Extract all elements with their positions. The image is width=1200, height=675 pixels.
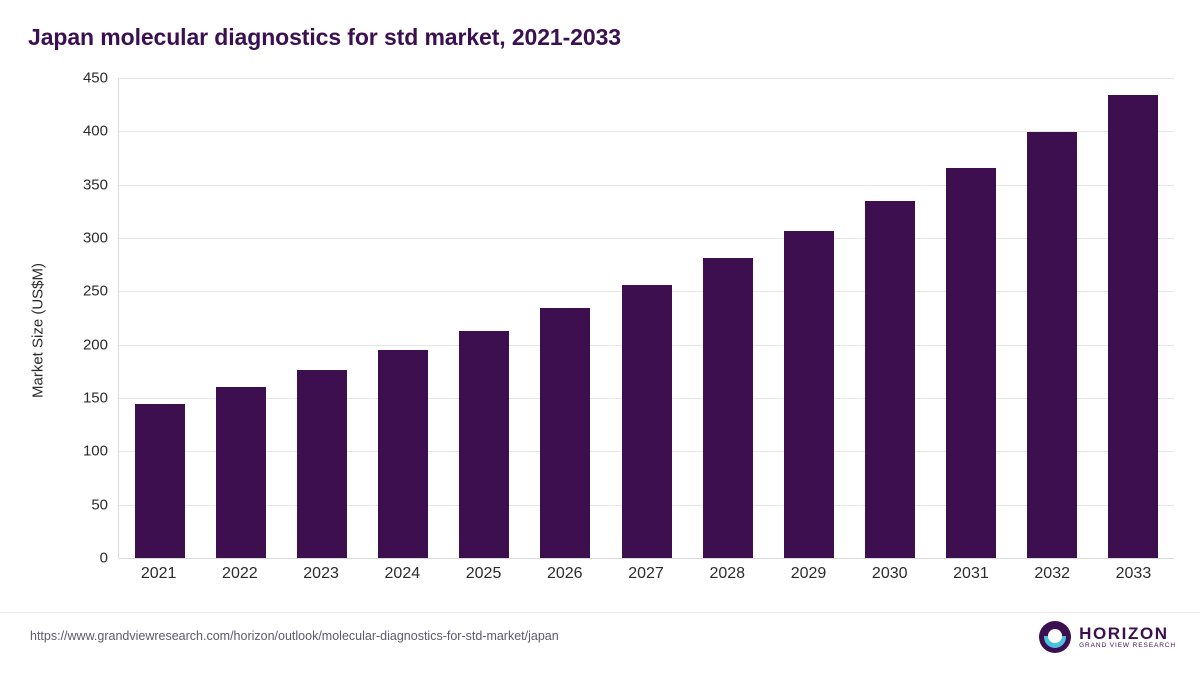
x-axis-ticks: 2021202220232024202520262027202820292030… <box>118 565 1174 583</box>
bar[interactable] <box>216 387 266 558</box>
y-tick-label: 400 <box>50 123 108 140</box>
horizon-logo-text: HORIZON GRAND VIEW RESEARCH <box>1079 625 1176 650</box>
x-tick-label: 2023 <box>280 565 361 583</box>
bar[interactable] <box>622 285 672 558</box>
bar-slot <box>281 78 362 558</box>
horizon-logo: HORIZON GRAND VIEW RESEARCH <box>1039 620 1176 654</box>
y-tick-label: 250 <box>50 283 108 300</box>
bar-slot <box>1093 78 1174 558</box>
footer-divider <box>0 612 1200 613</box>
bar-slot <box>200 78 281 558</box>
logo-name: HORIZON <box>1079 625 1176 643</box>
bar[interactable] <box>459 331 509 558</box>
x-tick-label: 2031 <box>930 565 1011 583</box>
y-tick-label: 300 <box>50 230 108 247</box>
source-url[interactable]: https://www.grandviewresearch.com/horizo… <box>30 629 559 643</box>
bar-slot <box>931 78 1012 558</box>
x-tick-label: 2028 <box>687 565 768 583</box>
bar-slot <box>768 78 849 558</box>
bar-slot <box>525 78 606 558</box>
bar-slot <box>606 78 687 558</box>
x-tick-label: 2033 <box>1093 565 1174 583</box>
x-tick-label: 2030 <box>849 565 930 583</box>
bar-slot <box>444 78 525 558</box>
bar-slot <box>1012 78 1093 558</box>
y-axis-ticks: 050100150200250300350400450 <box>50 78 108 558</box>
x-tick-label: 2025 <box>443 565 524 583</box>
bar[interactable] <box>135 404 185 558</box>
bar[interactable] <box>946 168 996 558</box>
chart-page: Japan molecular diagnostics for std mark… <box>0 0 1200 675</box>
y-tick-label: 350 <box>50 176 108 193</box>
y-tick-label: 450 <box>50 70 108 87</box>
bar[interactable] <box>540 308 590 558</box>
x-tick-label: 2021 <box>118 565 199 583</box>
x-tick-label: 2022 <box>199 565 280 583</box>
x-tick-label: 2027 <box>605 565 686 583</box>
x-tick-label: 2024 <box>362 565 443 583</box>
bar[interactable] <box>865 201 915 558</box>
x-tick-label: 2026 <box>524 565 605 583</box>
bar[interactable] <box>378 350 428 558</box>
page-title: Japan molecular diagnostics for std mark… <box>28 24 621 51</box>
logo-tagline: GRAND VIEW RESEARCH <box>1079 643 1176 650</box>
bar[interactable] <box>297 370 347 558</box>
bar-slot <box>362 78 443 558</box>
y-tick-label: 50 <box>50 496 108 513</box>
bar-series <box>119 78 1174 558</box>
grid-area <box>118 78 1174 558</box>
bar[interactable] <box>1108 95 1158 558</box>
y-tick-label: 0 <box>50 550 108 567</box>
bar[interactable] <box>1027 132 1077 558</box>
bar[interactable] <box>784 231 834 558</box>
gridline <box>119 558 1174 559</box>
y-tick-label: 150 <box>50 390 108 407</box>
plot-area: Market Size (US$M) 050100150200250300350… <box>0 78 1200 598</box>
y-axis-title: Market Size (US$M) <box>30 131 47 531</box>
bar-slot <box>849 78 930 558</box>
bar-slot <box>119 78 200 558</box>
y-tick-label: 200 <box>50 336 108 353</box>
bar-slot <box>687 78 768 558</box>
bar[interactable] <box>703 258 753 558</box>
horizon-logo-icon <box>1039 621 1071 653</box>
y-tick-label: 100 <box>50 443 108 460</box>
x-tick-label: 2029 <box>768 565 849 583</box>
x-tick-label: 2032 <box>1012 565 1093 583</box>
